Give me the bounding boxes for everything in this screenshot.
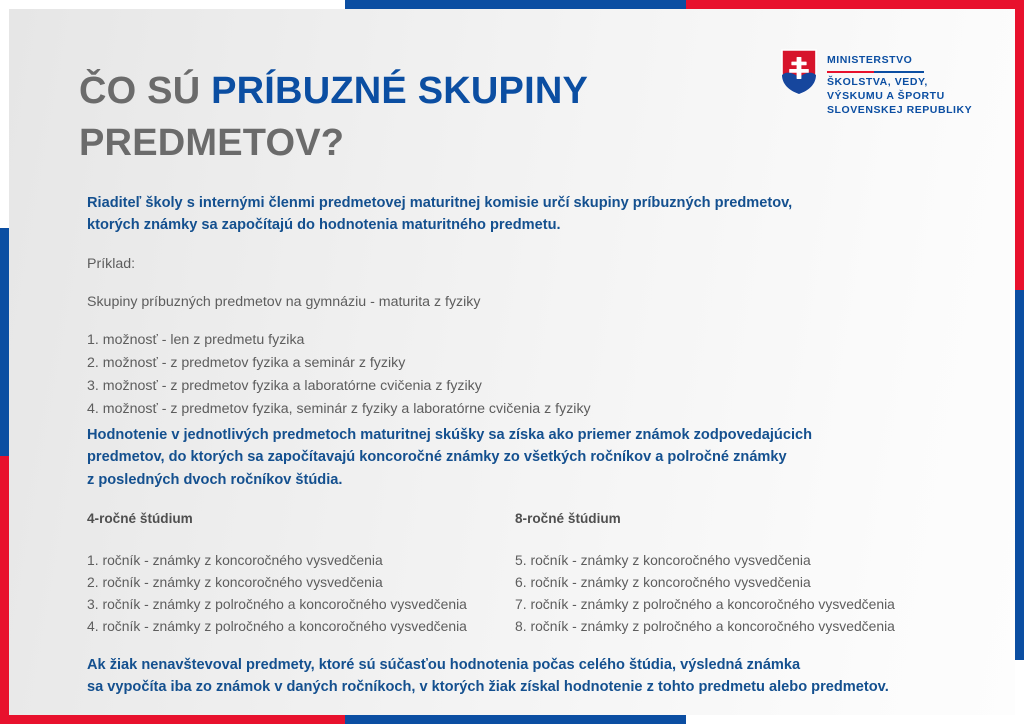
edge-bar-left-red — [0, 456, 9, 724]
final-paragraph: Ak žiak nenavštevoval predmety, ktoré sú… — [87, 654, 947, 699]
page-title-accent: PRÍBUZNÉ SKUPINY — [211, 70, 588, 112]
ministry-logo-underline-blue — [874, 71, 924, 73]
page-title-part-1: ČO SÚ — [79, 70, 211, 112]
page-title-part-2: PREDMETOV? — [79, 122, 344, 164]
grading-paragraph: Hodnotenie v jednotlivých predmetoch mat… — [87, 424, 897, 492]
intro-paragraph: Riaditeľ školy s internými členmi predme… — [87, 192, 887, 237]
edge-bar-left-blue — [0, 228, 9, 456]
options-list: 1. možnosť - len z predmetu fyzika 2. mo… — [87, 329, 591, 421]
ministry-logo-line-2: ŠKOLSTVA, VEDY, — [827, 76, 972, 90]
edge-bar-bottom-red — [0, 715, 345, 724]
ministry-logo-underline-red — [827, 71, 874, 73]
ministry-logo-text: MINISTERSTVO ŠKOLSTVA, VEDY, VÝSKUMU A Š… — [827, 49, 972, 117]
edge-bar-right-white — [1015, 660, 1024, 724]
edge-bar-bottom-blue — [345, 715, 686, 724]
ministry-logo-line-4: SLOVENSKEJ REPUBLIKY — [827, 104, 972, 118]
edge-bar-top-blue — [345, 0, 686, 9]
column-rows-four-year: 1. ročník - známky z koncoročného vysved… — [87, 550, 467, 638]
edge-bar-left-white — [0, 0, 9, 228]
ministry-logo: MINISTERSTVO ŠKOLSTVA, VEDY, VÝSKUMU A Š… — [781, 49, 972, 117]
edge-bar-top-white — [0, 0, 345, 9]
slide-canvas: ČO SÚ PRÍBUZNÉ SKUPINYPREDMETOV? MINISTE… — [9, 9, 1015, 715]
slide-root: ČO SÚ PRÍBUZNÉ SKUPINYPREDMETOV? MINISTE… — [0, 0, 1024, 724]
example-subtitle: Skupiny príbuzných predmetov na gymnáziu… — [87, 291, 480, 314]
column-rows-eight-year: 5. ročník - známky z koncoročného vysved… — [515, 550, 895, 638]
edge-bar-top-red — [686, 0, 1024, 9]
ministry-logo-line-3: VÝSKUMU A ŠPORTU — [827, 90, 972, 104]
edge-bar-bottom-white — [686, 715, 1024, 724]
column-heading-eight-year: 8-ročné štúdium — [515, 511, 621, 526]
example-label: Príklad: — [87, 253, 135, 276]
ministry-logo-line-1: MINISTERSTVO — [827, 54, 972, 70]
slovak-coat-of-arms-icon — [781, 49, 817, 95]
edge-bar-right-red — [1015, 0, 1024, 290]
page-title: ČO SÚ PRÍBUZNÉ SKUPINYPREDMETOV? — [79, 66, 719, 169]
column-heading-four-year: 4-ročné štúdium — [87, 511, 193, 526]
edge-bar-right-blue — [1015, 290, 1024, 660]
ministry-logo-underline — [827, 71, 924, 73]
